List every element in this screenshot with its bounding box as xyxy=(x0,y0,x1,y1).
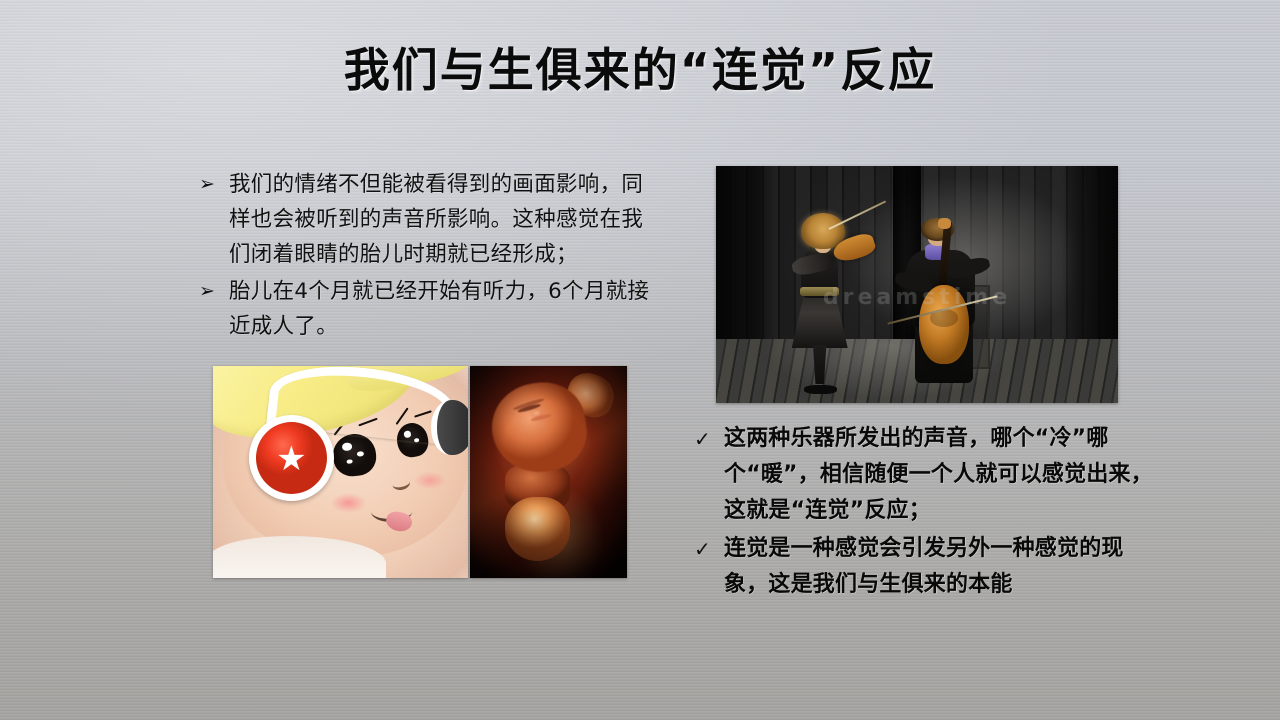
blush-left xyxy=(323,489,374,517)
pregnant-belly-photo: ★ xyxy=(213,366,468,578)
eye-highlight xyxy=(357,451,364,457)
list-item: ➢ 胎儿在4个月就已经开始有听力，6个月就接近成人了。 xyxy=(199,274,651,344)
list-item-text: 我们的情绪不但能被看得到的画面影响，同样也会被听到的声音所影响。这种感觉在我们闭… xyxy=(229,167,651,272)
list-item: ✓ 这两种乐器所发出的声音，哪个“冷”哪个“暖”，相信随便一个人就可以感觉出来，… xyxy=(694,421,1154,529)
headphone-cup-right xyxy=(431,400,468,455)
list-item-text: 连觉是一种感觉会引发另外一种感觉的现象，这是我们与生俱来的本能 xyxy=(724,531,1154,603)
cello-scroll xyxy=(938,218,951,229)
blush-right xyxy=(407,468,453,493)
musicians-photo: dreamstime xyxy=(716,166,1118,403)
check-bullet-icon: ✓ xyxy=(694,421,724,457)
list-item: ✓ 连觉是一种感觉会引发另外一种感觉的现象，这是我们与生俱来的本能 xyxy=(694,531,1154,603)
left-bullet-list: ➢ 我们的情绪不但能被看得到的画面影响，同样也会被听到的声音所影响。这种感觉在我… xyxy=(199,167,651,346)
list-item-text: 胎儿在4个月就已经开始有听力，6个月就接近成人了。 xyxy=(229,274,651,344)
arrow-bullet-icon: ➢ xyxy=(199,167,229,202)
slide: 我们与生俱来的“连觉”反应 ➢ 我们的情绪不但能被看得到的画面影响，同样也会被听… xyxy=(0,0,1280,720)
watermark-text: dreamstime xyxy=(780,285,1053,310)
eye-highlight xyxy=(346,459,352,464)
headphone-cup-left: ★ xyxy=(249,415,334,501)
eye-highlight xyxy=(342,443,352,452)
fetus-photo xyxy=(470,366,627,578)
arrow-bullet-icon: ➢ xyxy=(199,274,229,309)
star-icon: ★ xyxy=(276,442,306,476)
right-bullet-list: ✓ 这两种乐器所发出的声音，哪个“冷”哪个“暖”，相信随便一个人就可以感觉出来，… xyxy=(694,421,1154,605)
violinist-shoes xyxy=(804,385,836,394)
list-item: ➢ 我们的情绪不但能被看得到的画面影响，同样也会被听到的声音所影响。这种感觉在我… xyxy=(199,167,651,272)
violinist-legs xyxy=(809,345,830,385)
page-title: 我们与生俱来的“连觉”反应 xyxy=(0,34,1280,100)
list-item-text: 这两种乐器所发出的声音，哪个“冷”哪个“暖”，相信随便一个人就可以感觉出来，这就… xyxy=(724,421,1154,529)
fetus-vignette xyxy=(470,366,627,578)
check-bullet-icon: ✓ xyxy=(694,531,724,567)
